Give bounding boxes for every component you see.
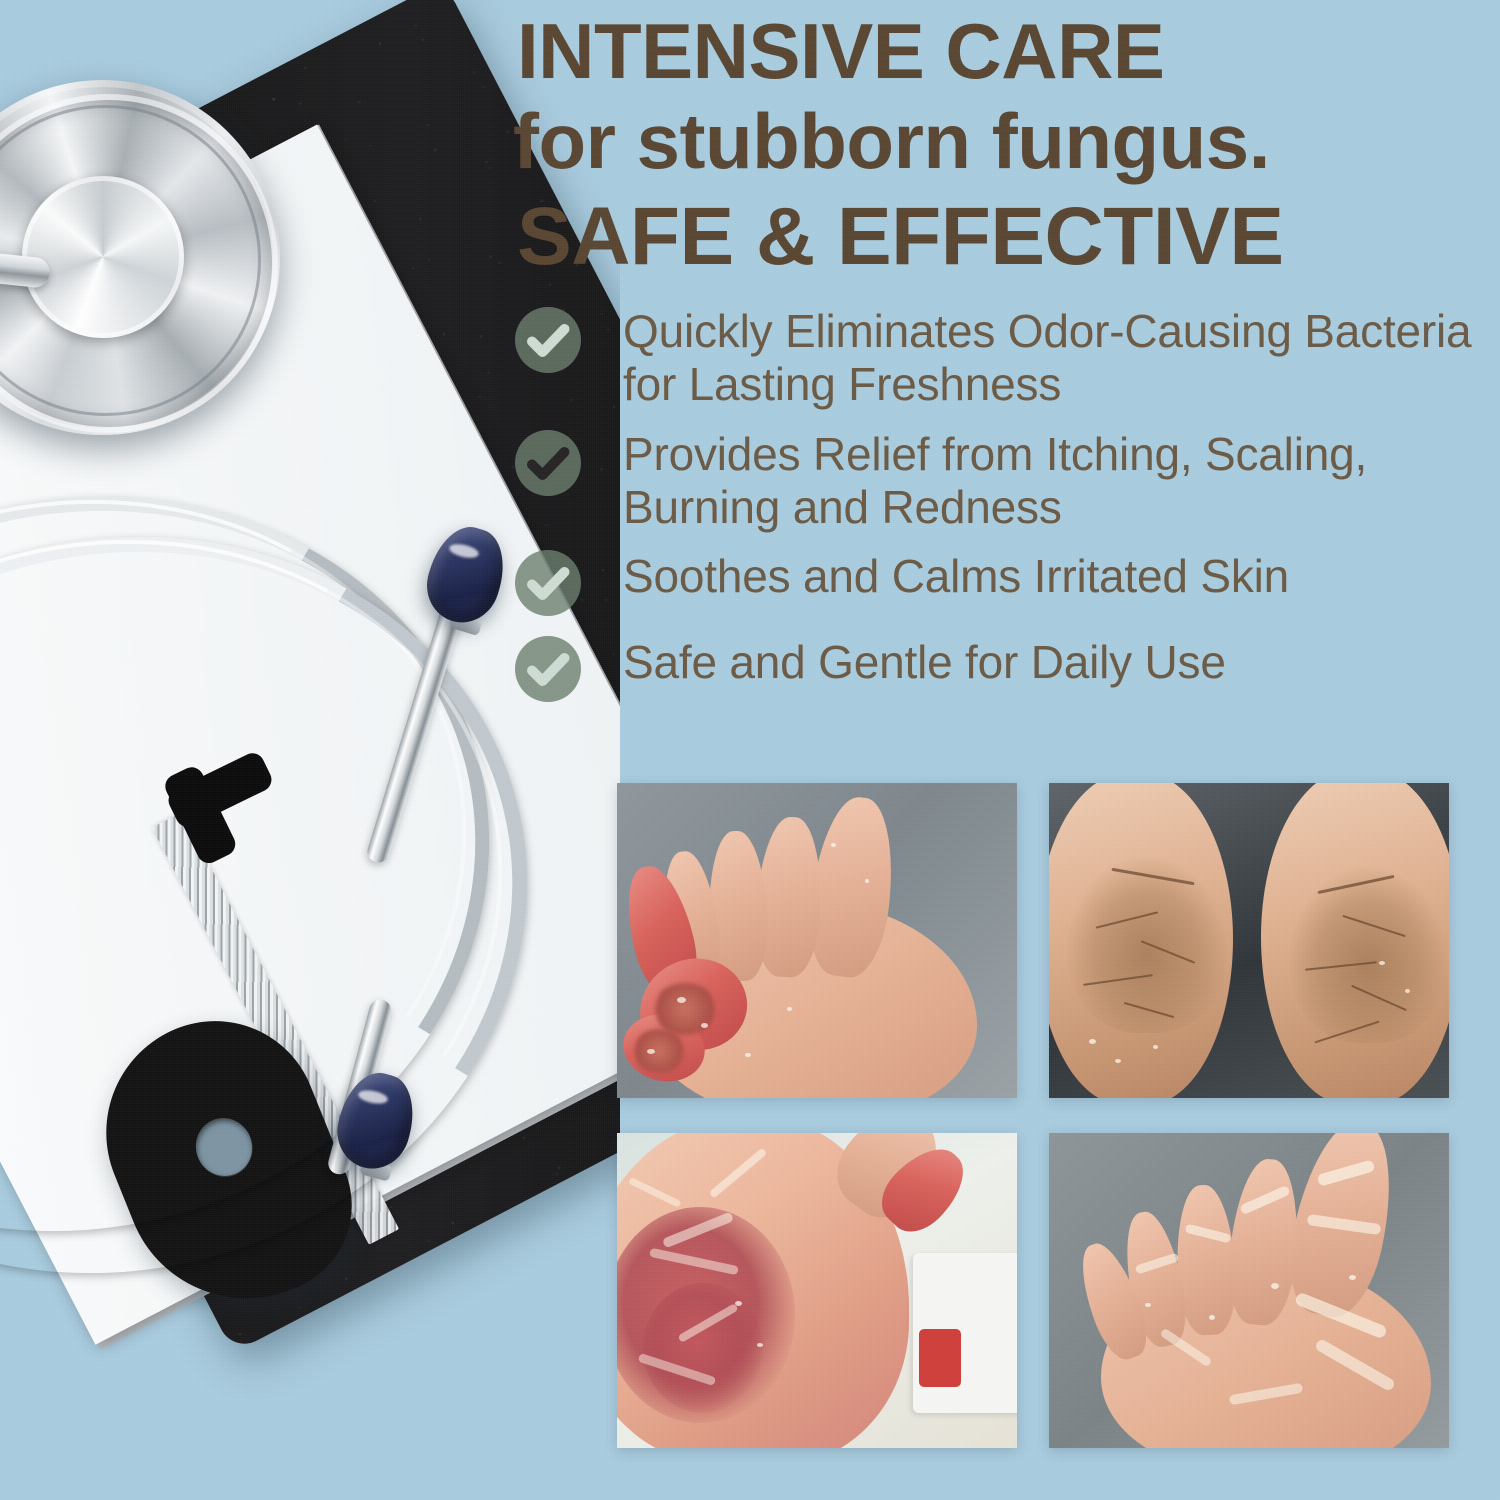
list-item: Soothes and Calms Irritated Skin [511,550,1496,620]
list-item-label: Quickly Eliminates Odor-Causing Bacteria… [623,305,1496,412]
headline-line-2: for stubborn fungus. [513,104,1270,179]
check-circle-icon [515,307,581,373]
check-circle-icon [515,430,581,496]
list-item-label: Provides Relief from Itching, Scaling, B… [623,428,1496,535]
condition-photo [617,1133,1017,1448]
marketing-content: INTENSIVE CARE for stubborn fungus. SAFE… [505,0,1500,1500]
condition-photo [617,783,1017,1098]
list-item: Quickly Eliminates Odor-Causing Bacteria… [511,305,1496,412]
condition-photo [1049,1133,1449,1448]
headline-line-3: SAFE & EFFECTIVE [517,198,1284,277]
list-item-label: Safe and Gentle for Daily Use [623,636,1496,689]
benefits-list: Quickly Eliminates Odor-Causing Bacteria… [511,305,1496,722]
condition-photo-grid [617,783,1449,1453]
check-circle-icon [515,550,581,616]
condition-photo [1049,783,1449,1098]
list-item-label: Soothes and Calms Irritated Skin [623,550,1496,603]
list-item: Provides Relief from Itching, Scaling, B… [511,428,1496,535]
chestpiece-hub [22,176,184,338]
product-infographic: INTENSIVE CARE for stubborn fungus. SAFE… [0,0,1500,1500]
check-circle-icon [515,636,581,702]
headline-line-1: INTENSIVE CARE [517,14,1164,89]
list-item: Safe and Gentle for Daily Use [511,636,1496,706]
